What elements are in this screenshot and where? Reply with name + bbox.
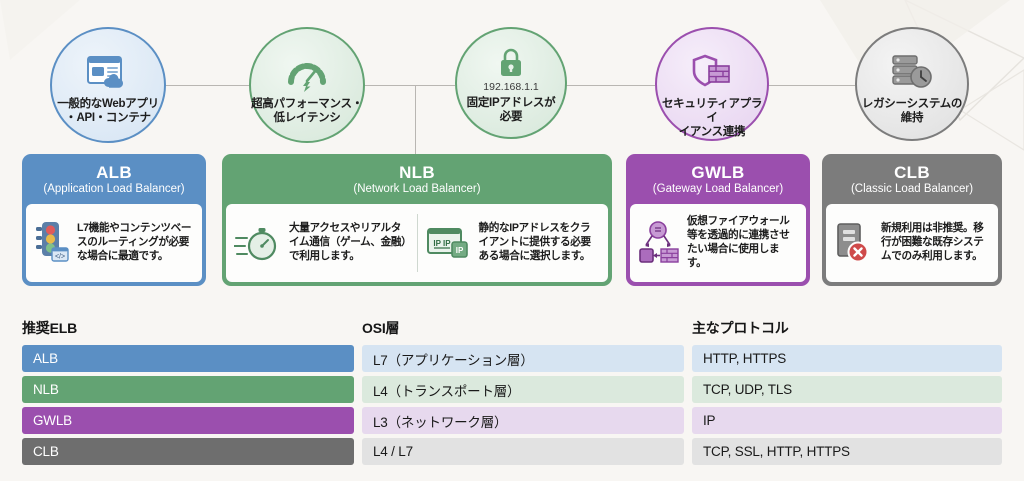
card-gwlb: GWLB (Gateway Load Balancer) [626, 154, 810, 286]
use-case-label-line2: 低レイテンシ [274, 112, 341, 124]
card-panel: IP IP IP 静的なIPアドレスをクライアントに提供する必要ある場合に選択し… [426, 222, 601, 264]
table-header-osi: OSI層 [362, 318, 692, 338]
shield-firewall-icon [689, 51, 735, 95]
use-case-static-ip: 192.168.1.1 固定IPアドレスが 必要 [455, 27, 567, 139]
table-header-elb: 推奨ELB [22, 318, 362, 338]
use-case-performance: 超高パフォーマンス・ 低レイテンシ [249, 27, 365, 143]
card-panel: 大量アクセスやリアルタイム通信（ゲーム、金融）で利用します。 [234, 222, 409, 264]
card-panel-text: L7機能やコンテンツベースのルーティングが必要な場合に最適です。 [77, 222, 194, 264]
card-title-clb: CLB (Classic Load Balancer) [826, 158, 998, 204]
use-case-legacy: レガシーシステムの 維持 [855, 27, 969, 141]
use-case-label-line2: 必要 [500, 111, 522, 123]
static-ip-value: 192.168.1.1 [483, 82, 538, 94]
card-fullname: (Classic Load Balancer) [830, 183, 994, 196]
card-panel-text: 大量アクセスやリアルタイム通信（ゲーム、金融）で利用します。 [289, 222, 409, 264]
browser-cloud-icon [85, 51, 131, 95]
use-case-label-line1: 固定IPアドレスが [467, 97, 556, 109]
card-abbr: ALB [30, 164, 198, 182]
panel-divider [417, 214, 418, 272]
card-panel-text: 新規利用は非推奨。移行が困難な既存システムでのみ利用します。 [881, 222, 990, 264]
use-case-label-line1: レガシーシステムの [862, 98, 962, 110]
table-row: NLB L4（トランスポート層） TCP, UDP, TLS [0, 376, 1024, 403]
card-abbr: CLB [830, 164, 994, 182]
card-panel: </> L7機能やコンテンツベースのルーティングが必要な場合に最適です。 [34, 220, 194, 266]
card-body-gwlb: 仮想ファイアウォール等を透過的に連携させたい場合に使用します。 [630, 204, 806, 282]
card-clb: CLB (Classic Load Balancer) 新規利用は非推奨。移行が… [822, 154, 1002, 286]
table-cell-elb: ALB [22, 345, 354, 372]
use-case-label-line2: イアンス連携 [679, 126, 746, 138]
connector-line-1 [165, 85, 250, 86]
table-row: ALB L7（アプリケーション層） HTTP, HTTPS [0, 345, 1024, 372]
table-cell-osi: L4 / L7 [362, 438, 684, 465]
card-abbr: GWLB [634, 164, 802, 182]
comparison-table: 推奨ELB OSI層 主なプロトコル ALB L7（アプリケーション層） HTT… [0, 318, 1024, 469]
speedometer-icon [285, 51, 329, 95]
card-fullname: (Gateway Load Balancer) [634, 183, 802, 196]
table-cell-elb: NLB [22, 376, 354, 403]
firewall-transparent-icon [638, 221, 680, 265]
card-fullname: (Network Load Balancer) [230, 183, 604, 196]
table-cell-protocols: HTTP, HTTPS [692, 345, 1002, 372]
connector-line-2 [360, 85, 455, 86]
card-nlb: NLB (Network Load Balancer) [222, 154, 612, 286]
connector-drop-nlb [415, 85, 416, 155]
table-cell-elb: GWLB [22, 407, 354, 434]
table-cell-osi: L4（トランスポート層） [362, 376, 684, 403]
card-abbr: NLB [230, 164, 604, 182]
connector-line-3 [565, 85, 655, 86]
card-panel: 仮想ファイアウォール等を透過的に連携させたい場合に使用します。 [638, 215, 798, 271]
traffic-light-code-icon: </> [34, 220, 70, 266]
svg-text:IP IP: IP IP [433, 239, 451, 248]
table-cell-elb: CLB [22, 438, 354, 465]
card-body-clb: 新規利用は非推奨。移行が困難な既存システムでのみ利用します。 [826, 204, 998, 282]
card-body-nlb: 大量アクセスやリアルタイム通信（ゲーム、金融）で利用します。 IP IP IP … [226, 204, 608, 282]
card-panel-text: 仮想ファイアウォール等を透過的に連携させたい場合に使用します。 [687, 215, 798, 271]
lock-icon [496, 45, 526, 81]
card-panel: 新規利用は非推奨。移行が困難な既存システムでのみ利用します。 [834, 221, 990, 265]
use-case-label-line2: ・API・コンテナ [65, 112, 150, 124]
use-case-label-line1: 超高パフォーマンス・ [251, 98, 363, 110]
server-clock-icon [889, 51, 935, 95]
ip-window-icon: IP IP IP [426, 223, 472, 263]
card-title-nlb: NLB (Network Load Balancer) [226, 158, 608, 204]
card-body-alb: </> L7機能やコンテンツベースのルーティングが必要な場合に最適です。 [26, 204, 202, 282]
table-cell-protocols: TCP, UDP, TLS [692, 376, 1002, 403]
use-case-security: セキュリティアプライ イアンス連携 [655, 27, 769, 141]
card-fullname: (Application Load Balancer) [30, 183, 198, 196]
card-alb: ALB (Application Load Balancer) [22, 154, 206, 286]
connector-line-4 [765, 85, 855, 86]
stopwatch-icon [234, 222, 282, 264]
legacy-server-error-icon [834, 221, 874, 265]
table-cell-protocols: IP [692, 407, 1002, 434]
svg-text:IP: IP [455, 246, 463, 255]
use-case-label-line2: 維持 [901, 112, 923, 124]
table-header-protocols: 主なプロトコル [692, 318, 1002, 338]
card-title-gwlb: GWLB (Gateway Load Balancer) [630, 158, 806, 204]
table-cell-osi: L7（アプリケーション層） [362, 345, 684, 372]
svg-text:</>: </> [55, 254, 65, 261]
table-row: CLB L4 / L7 TCP, SSL, HTTP, HTTPS [0, 438, 1024, 465]
table-header-row: 推奨ELB OSI層 主なプロトコル [0, 318, 1024, 338]
table-cell-osi: L3（ネットワーク層） [362, 407, 684, 434]
card-panel-text: 静的なIPアドレスをクライアントに提供する必要ある場合に選択します。 [479, 222, 601, 264]
use-case-web-app: 一般的なWebアプリ ・API・コンテナ [50, 27, 166, 143]
table-row: GWLB L3（ネットワーク層） IP [0, 407, 1024, 434]
card-title-alb: ALB (Application Load Balancer) [26, 158, 202, 204]
use-case-label-line1: 一般的なWebアプリ [57, 98, 159, 110]
table-cell-protocols: TCP, SSL, HTTP, HTTPS [692, 438, 1002, 465]
use-case-label-line1: セキュリティアプライ [662, 98, 762, 124]
elb-comparison-infographic: 一般的なWebアプリ ・API・コンテナ 超高パフォーマンス・ 低レイテンシ [0, 0, 1024, 481]
